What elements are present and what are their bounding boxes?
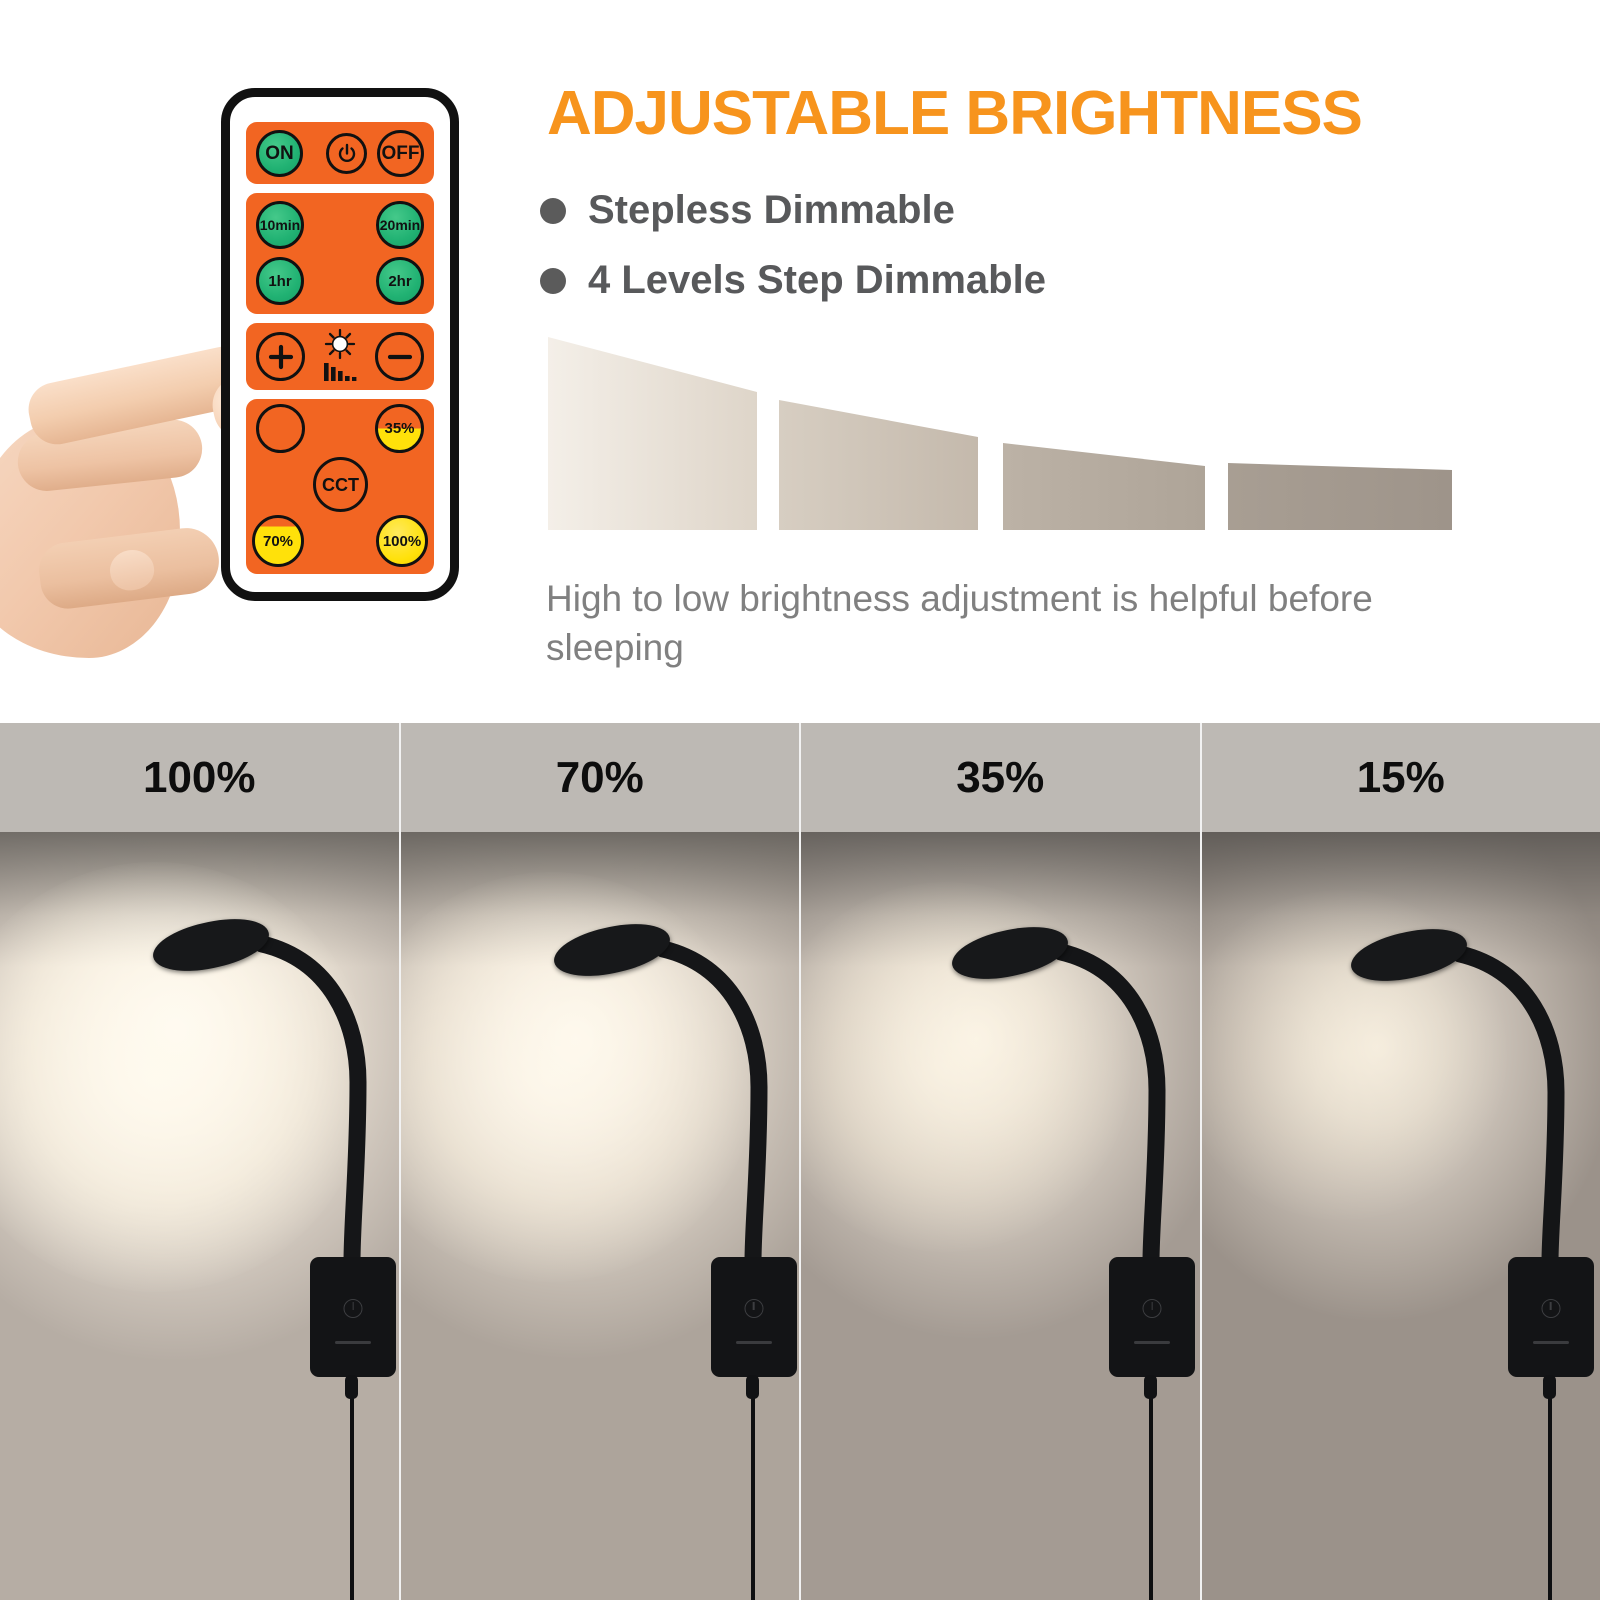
minus-icon [385,342,415,372]
power-icon[interactable] [326,133,367,174]
lamp-neck [1202,832,1600,1312]
off-button-label: OFF [382,144,420,163]
base-power-icon[interactable] [744,1299,763,1318]
remote-pad-dimmer [246,323,434,390]
power-cable [751,1392,755,1600]
timer-10min-button[interactable]: 10min [256,201,304,249]
lamp-comparison-panels [0,832,1600,1600]
remote-pad-levels: 35% CCT 70% 100% [246,399,434,574]
lamp-panel-70 [401,832,802,1600]
level-35-button[interactable]: 35% [375,404,424,453]
caption-text: High to low brightness adjustment is hel… [546,575,1426,673]
base-power-icon[interactable] [1143,1299,1162,1318]
remote-pad-timer: 10min 20min 1hr 2hr [246,193,434,314]
level-15-button[interactable] [256,404,305,453]
timer-2hr-label: 2hr [388,274,411,289]
level-100-button[interactable]: 100% [376,515,428,567]
page-title: ADJUSTABLE BRIGHTNESS [547,78,1407,149]
level-70-button[interactable]: 70% [252,515,304,567]
level-label-15: 15% [1202,723,1600,832]
timer-2hr-button[interactable]: 2hr [376,257,424,305]
bullet-item-stepless: Stepless Dimmable [540,188,955,233]
power-cable [350,1392,354,1600]
on-button[interactable]: ON [256,130,303,177]
plus-icon [266,342,296,372]
cct-label: CCT [322,476,359,494]
lamp-panel-15 [1202,832,1600,1600]
cable-plug [345,1375,358,1399]
power-glyph [335,142,359,166]
base-slider-icon[interactable] [335,1341,371,1344]
bullet-dot-icon [540,268,566,294]
level-label-35: 35% [801,723,1202,832]
level-label-100: 100% [0,723,401,832]
brightness-decrease-button[interactable] [375,332,424,381]
lamp-wall-base[interactable] [310,1257,396,1377]
lamp-neck [401,832,801,1312]
timer-1hr-button[interactable]: 1hr [256,257,304,305]
brightness-increase-button[interactable] [256,332,305,381]
cable-plug [746,1375,759,1399]
bullet-item-4levels: 4 Levels Step Dimmable [540,258,1046,303]
lamp-neck [801,832,1201,1312]
level-70-label: 70% [263,534,293,549]
cct-button[interactable]: CCT [313,457,368,512]
timer-20min-button[interactable]: 20min [376,201,424,249]
level-100-label: 100% [383,534,421,549]
base-slider-icon[interactable] [1134,1341,1170,1344]
lamp-neck [0,832,400,1312]
bullet-label: Stepless Dimmable [588,188,955,233]
timer-10min-label: 10min [260,218,300,232]
lamp-wall-base[interactable] [1109,1257,1195,1377]
timer-20min-label: 20min [380,218,420,232]
base-power-icon[interactable] [344,1299,363,1318]
cable-plug [1144,1375,1157,1399]
base-power-icon[interactable] [1541,1299,1560,1318]
timer-1hr-label: 1hr [268,274,291,289]
off-button[interactable]: OFF [377,130,424,177]
lamp-wall-base[interactable] [1508,1257,1594,1377]
top-section: ON OFF 10min 20min [0,0,1600,723]
level-label-70: 70% [401,723,802,832]
bullet-dot-icon [540,198,566,224]
base-slider-icon[interactable] [1533,1341,1569,1344]
power-cable [1548,1392,1552,1600]
on-button-label: ON [265,144,294,163]
sun-and-bars-glyph [312,327,368,385]
lamp-panel-35 [801,832,1202,1600]
infographic-page: ON OFF 10min 20min [0,0,1600,1600]
power-cable [1149,1392,1153,1600]
lamp-panel-100 [0,832,401,1600]
level-35-label: 35% [384,421,414,436]
bullet-label: 4 Levels Step Dimmable [588,258,1046,303]
base-slider-icon[interactable] [736,1341,772,1344]
cable-plug [1543,1375,1556,1399]
remote-control[interactable]: ON OFF 10min 20min [221,88,459,601]
brightness-levels-band: 100% 70% 35% 15% [0,723,1600,832]
brightness-icon [312,327,368,385]
remote-pad-power: ON OFF [246,122,434,184]
lamp-wall-base[interactable] [711,1257,797,1377]
